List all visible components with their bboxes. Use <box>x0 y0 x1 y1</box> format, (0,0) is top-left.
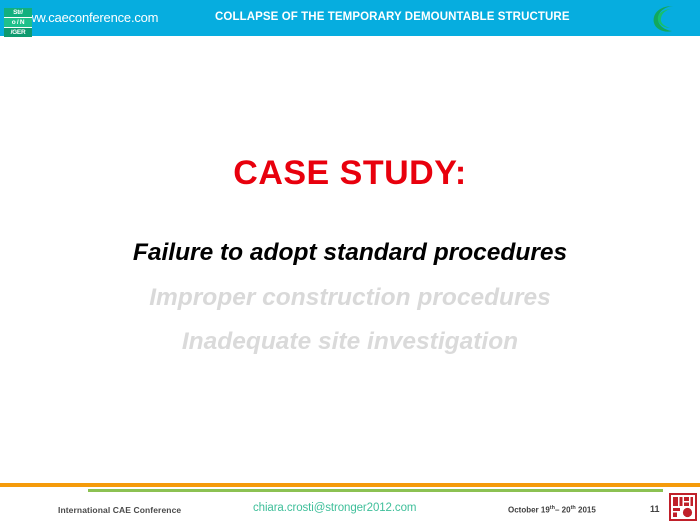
footer-date-year: 2015 <box>578 506 596 515</box>
footer-conference-name: International CAE Conference <box>58 505 181 515</box>
footer-event-date: October 19th– 20th 2015 <box>508 505 596 515</box>
caeconference-crescent-logo-icon <box>648 4 682 34</box>
stronger-logo-line-1: Str/ <box>4 8 32 17</box>
header-presentation-title: COLLAPSE OF THE TEMPORARY DEMOUNTABLE ST… <box>215 11 570 23</box>
page-title: CASE STUDY: <box>0 154 700 193</box>
stronger-logo-line-3: /GER <box>4 28 32 37</box>
footer-divider-orange <box>0 483 700 487</box>
stronger2012-logo-icon: Str/ o / N /GER <box>4 8 32 37</box>
stronger-logo-line-2: o / N <box>4 18 32 27</box>
cause-item-3: Inadequate site investigation <box>0 328 700 356</box>
footer-email-link[interactable]: chiara.crosti@stronger2012.com <box>253 502 416 514</box>
cause-item-2: Improper construction procedures <box>0 284 700 312</box>
footer-page-number: 11 <box>650 504 660 514</box>
slide-content-area: CASE STUDY: Failure to adopt standard pr… <box>0 36 700 483</box>
footer-date-month: October 19 <box>508 506 550 515</box>
footer-date-dash: – 20 <box>555 506 571 515</box>
red-seal-logo-icon <box>669 493 697 521</box>
cause-item-1: Failure to adopt standard procedures <box>0 239 700 267</box>
footer-divider-green <box>88 489 663 492</box>
footer-date-ordinal-2: th <box>571 505 576 511</box>
slide-header-bar: www.caeconference.com COLLAPSE OF THE TE… <box>0 0 700 36</box>
header-website-url[interactable]: www.caeconference.com <box>18 10 158 25</box>
